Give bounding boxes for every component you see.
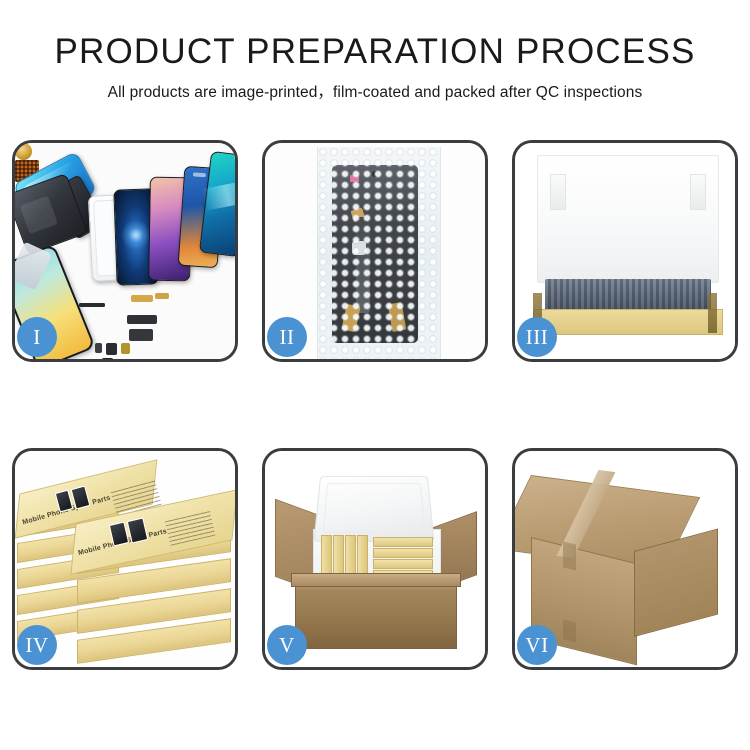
yellow-box-h2	[373, 548, 433, 558]
small-component-2	[106, 343, 117, 355]
carton-rim	[291, 573, 461, 587]
kraft-box-front	[533, 309, 723, 335]
vibration-motor-part	[15, 143, 32, 160]
bubble-texture	[318, 147, 440, 359]
small-component-3	[121, 343, 130, 354]
small-component-1	[95, 343, 102, 353]
process-step-panel-1[interactable]: I	[12, 140, 238, 362]
process-step-panel-4[interactable]: Mobile Phone Spare Parts Mobile Phone Sp…	[12, 448, 238, 670]
carton-front-panel	[295, 579, 457, 649]
yellow-box-h3	[373, 559, 433, 569]
flex-cable-part-1	[131, 295, 153, 302]
white-box-lid	[537, 155, 719, 283]
step-badge-6: VI	[517, 625, 557, 665]
bubble-wrap-bag	[317, 147, 441, 359]
step-badge-4: IV	[17, 625, 57, 665]
process-step-panel-3[interactable]: III	[512, 140, 738, 362]
speaker-part	[79, 303, 105, 307]
flex-cable-part-3	[127, 315, 157, 324]
lid-tab-left	[550, 174, 566, 210]
flex-cable-part-2	[155, 293, 169, 299]
step-badge-1: I	[17, 317, 57, 357]
small-component-4	[101, 358, 114, 359]
process-step-panel-2[interactable]: II	[262, 140, 488, 362]
process-step-panel-6[interactable]: VI	[512, 448, 738, 670]
page-header: PRODUCT PREPARATION PROCESS All products…	[0, 0, 750, 102]
process-step-panel-5[interactable]: V	[262, 448, 488, 670]
box-edge-right	[708, 293, 717, 333]
lid-tab-right	[690, 174, 706, 210]
page-subtitle: All products are image-printed，film-coat…	[0, 71, 750, 102]
step-badge-5: V	[267, 625, 307, 665]
foam-lid	[313, 476, 434, 542]
step-badge-3: III	[517, 317, 557, 357]
flex-cable-part-4	[129, 329, 153, 341]
yellow-box-h1	[373, 537, 433, 547]
process-steps-grid: I II	[12, 140, 738, 670]
carton-seam-top	[563, 541, 576, 570]
step-badge-2: II	[267, 317, 307, 357]
page-title: PRODUCT PREPARATION PROCESS	[0, 0, 750, 71]
carton-seam-bottom	[563, 619, 576, 642]
packed-contents	[545, 279, 711, 311]
